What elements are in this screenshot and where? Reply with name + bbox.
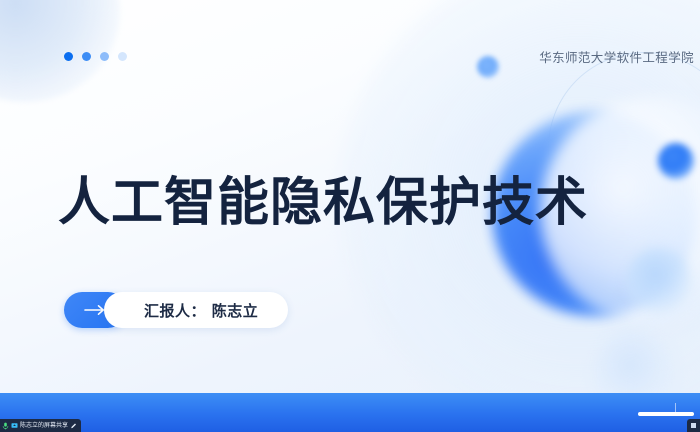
small-blue-circle-icon: [477, 56, 499, 78]
grid-icon[interactable]: [687, 419, 700, 432]
progress-dot-4: [118, 52, 127, 61]
screen-share-status-bar[interactable]: 陈志立的屏幕共享: [0, 419, 81, 432]
grid-glyph: [691, 423, 696, 428]
institution-label: 华东师范大学软件工程学院: [539, 47, 694, 66]
microphone-icon: [2, 422, 9, 430]
progress-dots: [64, 52, 127, 61]
zoom-slider[interactable]: [638, 412, 694, 416]
medium-blue-circle-icon: [658, 143, 694, 179]
progress-dot-3: [100, 52, 109, 61]
meeting-screen-share-view: 华东师范大学软件工程学院 人工智能隐私保护技术 汇报人： 陈志立: [0, 0, 700, 432]
meeting-toolbar[interactable]: [0, 393, 700, 432]
presenter-block: 汇报人： 陈志立: [64, 292, 288, 328]
pale-blue-circle-icon: [626, 248, 692, 314]
progress-dot-1: [64, 52, 73, 61]
progress-dot-2: [82, 52, 91, 61]
slider-tick: [675, 403, 676, 412]
presenter-label: 汇报人： 陈志立: [104, 292, 288, 328]
screen-share-icon: [11, 422, 18, 430]
soft-blue-blob-icon: [0, 0, 120, 102]
pencil-icon: [70, 422, 77, 430]
presentation-slide[interactable]: 华东师范大学软件工程学院 人工智能隐私保护技术 汇报人： 陈志立: [0, 0, 700, 393]
slide-title: 人工智能隐私保护技术: [58, 173, 588, 234]
screen-share-status-text: 陈志立的屏幕共享: [20, 423, 68, 429]
